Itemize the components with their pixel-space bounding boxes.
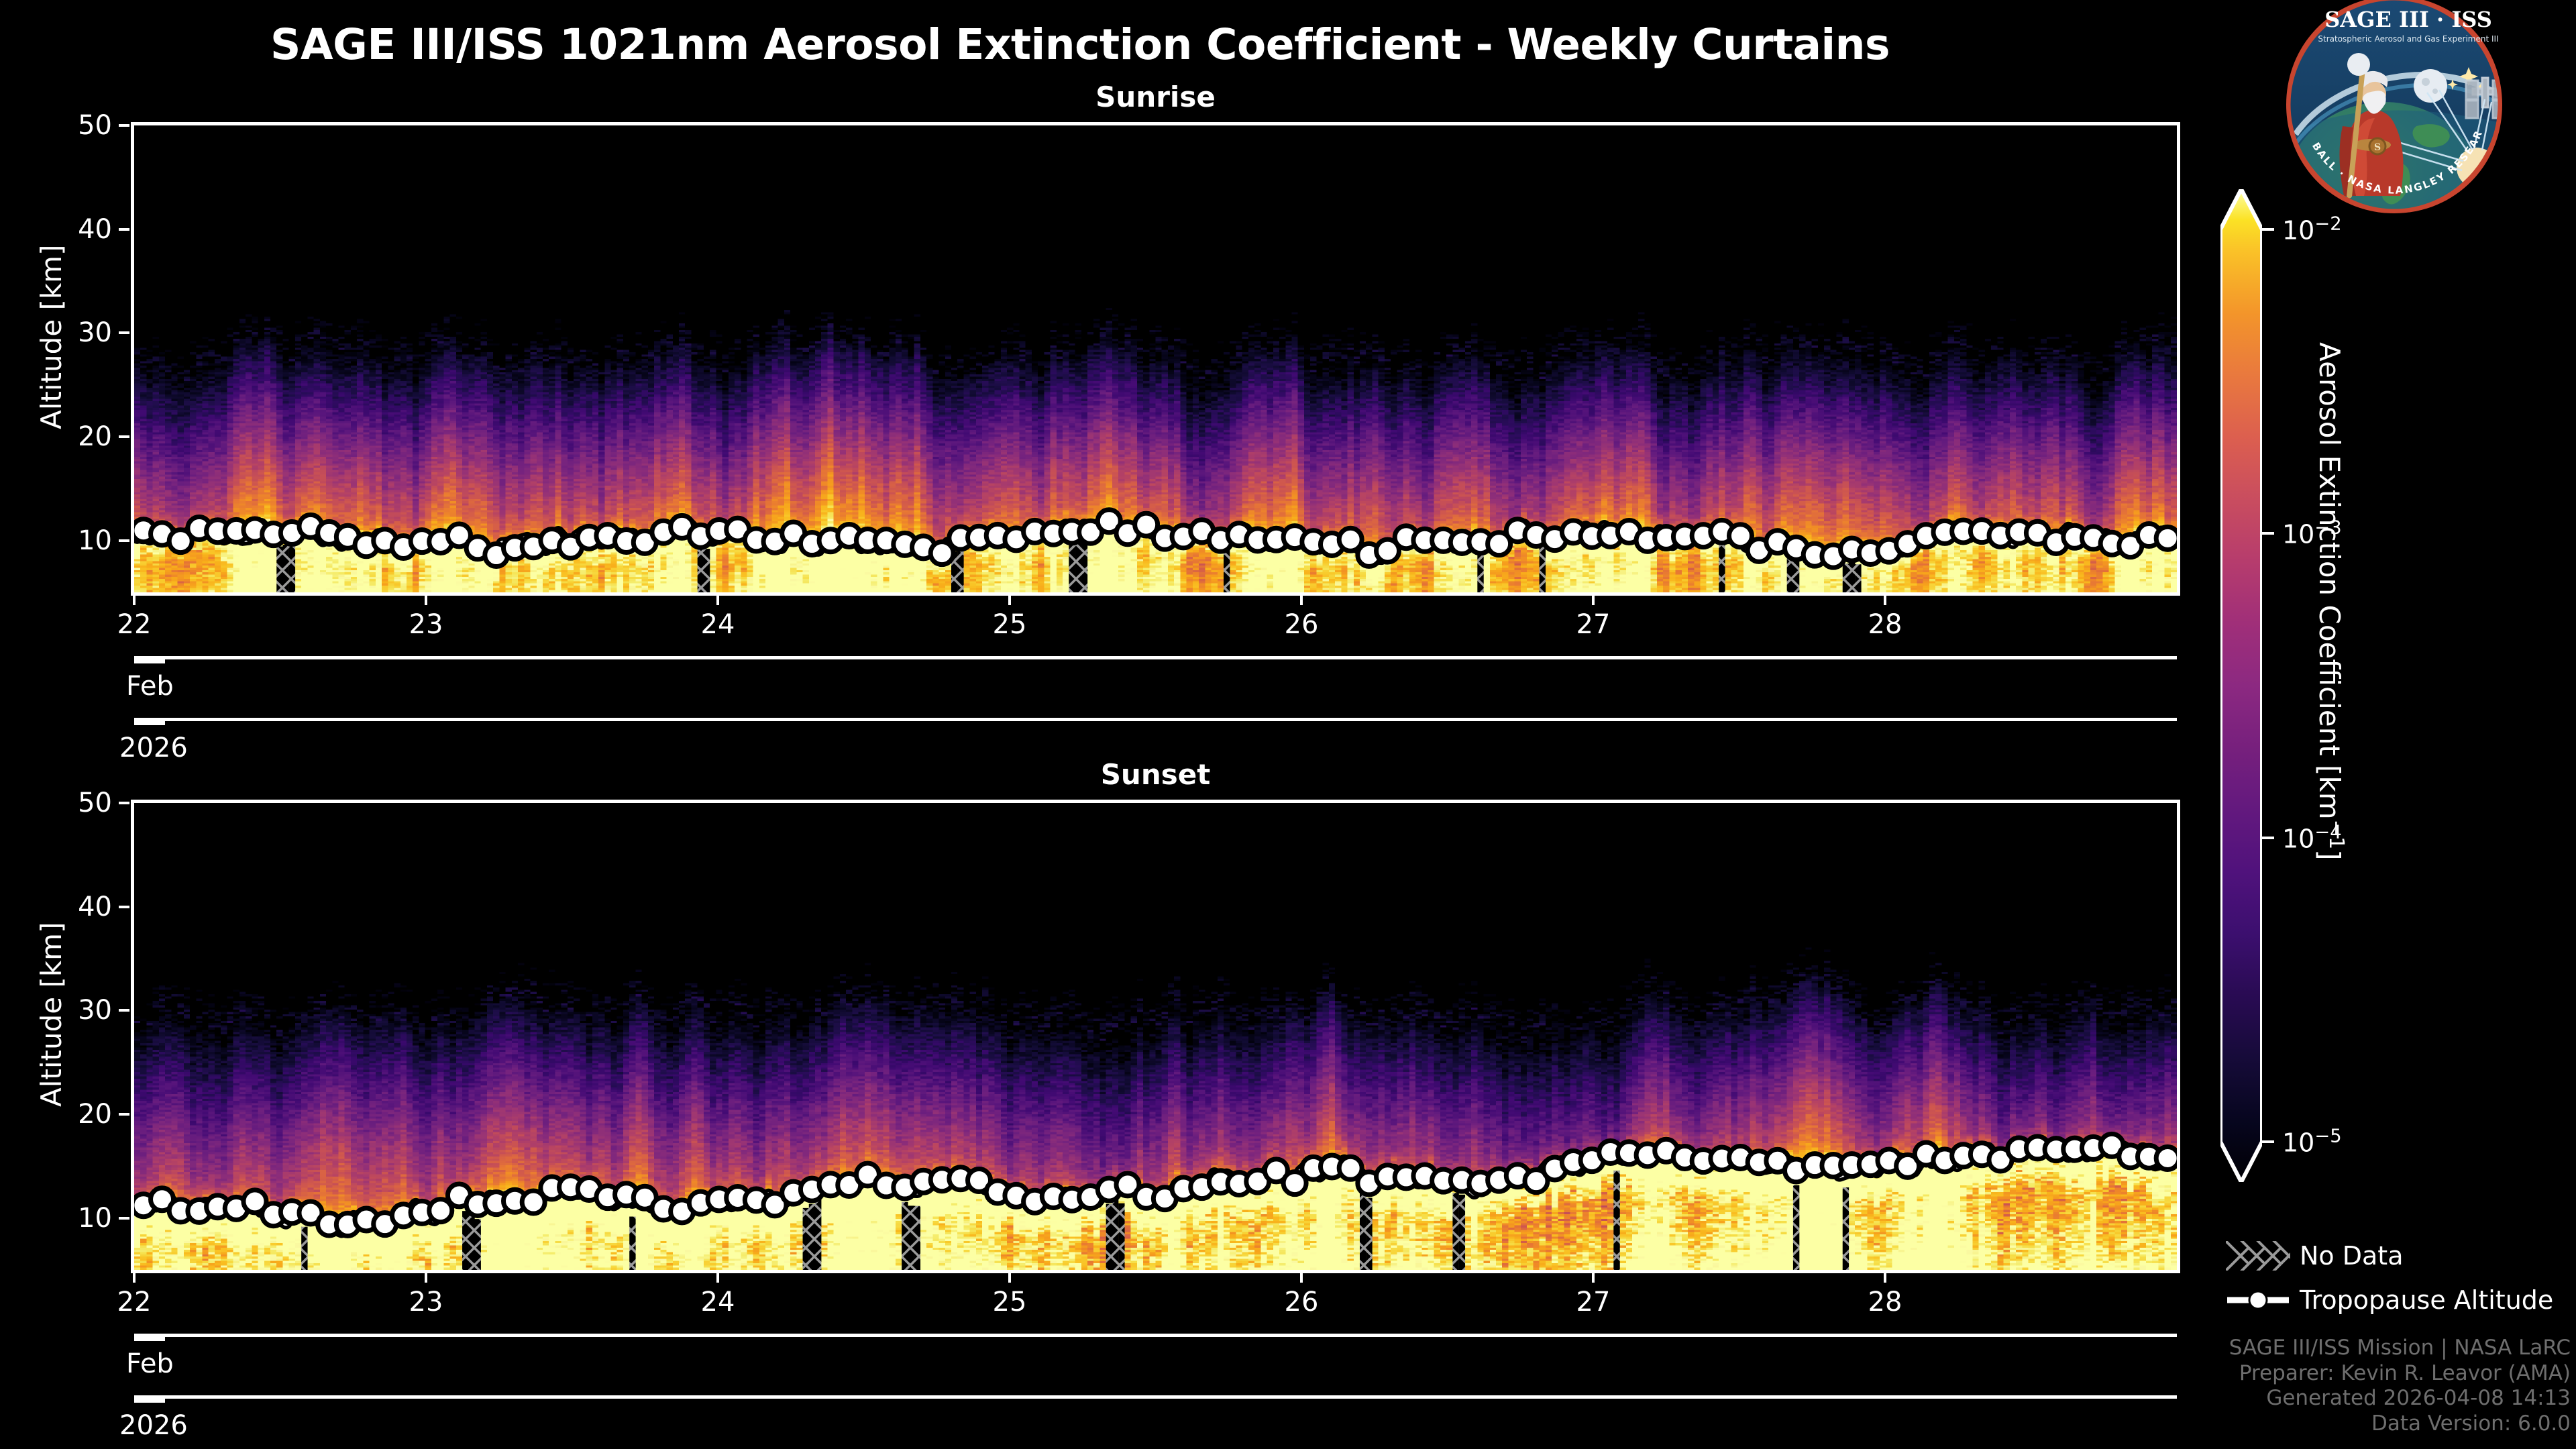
y-tick-label: 40 [0, 892, 112, 922]
no-data-column [1793, 557, 1799, 592]
x-tick-label: 26 [1285, 1287, 1319, 1318]
sage-iii-iss-mission-patch: S SAGE III · ISS Stratospheric Aerosol a… [2284, 0, 2505, 216]
footer-line-version: Data Version: 6.0.0 [2229, 1411, 2571, 1437]
x-level-tab-month [134, 1334, 165, 1341]
no-data-column [1719, 541, 1725, 592]
no-data-column [468, 1213, 474, 1270]
x-level-tab-month [134, 656, 165, 663]
x-tick-label: 24 [701, 1287, 735, 1318]
colorbar-tick-label: 10−5 [2282, 1126, 2342, 1158]
no-data-column [1112, 1198, 1118, 1270]
no-data-column [704, 549, 710, 592]
no-data-column [902, 1202, 908, 1270]
x-tick-label: 26 [1285, 609, 1319, 640]
no-data-column [462, 1211, 468, 1270]
no-data-column [1452, 1193, 1458, 1270]
sunrise-overlay [134, 125, 2177, 592]
x-tick-mark [133, 596, 136, 605]
x-level-label-month: Feb [126, 671, 174, 702]
tropopause-line-icon [2226, 1285, 2290, 1315]
legend-label-tropopause: Tropopause Altitude [2300, 1285, 2553, 1315]
tropopause-marker [2156, 527, 2177, 549]
legend: No Data Tropopause Altitude [2226, 1238, 2561, 1318]
no-data-column [908, 1205, 914, 1270]
y-tick-mark [119, 435, 129, 438]
no-data-column [698, 545, 704, 592]
tropopause-marker [2156, 1147, 2177, 1170]
x-tick-label: 28 [1868, 609, 1902, 640]
no-data-column [1224, 549, 1230, 592]
y-tick-mark [119, 331, 129, 334]
y-tick-label: 50 [0, 110, 112, 141]
panel-sunset: Sunset [131, 800, 2180, 1273]
y-tick-label: 40 [0, 214, 112, 245]
no-data-column [1360, 1191, 1366, 1270]
x-level-rule-year [134, 1395, 2177, 1399]
y-tick-mark [119, 1217, 129, 1220]
y-tick-mark [119, 1009, 129, 1012]
panel-sunrise: Sunrise [131, 122, 2180, 596]
footer-line-mission: SAGE III/ISS Mission | NASA LaRC [2229, 1336, 2571, 1361]
no-data-column [957, 547, 963, 592]
colorbar [2220, 189, 2262, 1182]
no-data-column [1540, 544, 1546, 592]
colorbar-tick-mark [2262, 228, 2274, 231]
y-tick-label: 30 [0, 995, 112, 1026]
colorbar-tick-mark [2262, 1140, 2274, 1143]
y-tick-label: 10 [0, 1203, 112, 1234]
patch-title: SAGE III · ISS [2324, 7, 2492, 32]
x-tick-label: 25 [993, 609, 1027, 640]
no-data-column [1459, 1195, 1465, 1270]
figure-title: SAGE III/ISS 1021nm Aerosol Extinction C… [0, 20, 2160, 69]
y-tick-mark [119, 228, 129, 231]
no-data-column [1106, 1204, 1112, 1270]
colorbar-title-text: Aerosol Extinction Coefficient [2313, 342, 2346, 756]
y-tick-mark [119, 802, 129, 804]
colorbar-tick-mark [2262, 532, 2274, 535]
svg-text:S: S [2374, 142, 2381, 153]
legend-item-no-data: No Data [2226, 1238, 2561, 1274]
no-data-column [475, 1219, 481, 1270]
x-tick-mark [716, 1273, 719, 1283]
legend-label-no-data: No Data [2300, 1241, 2404, 1271]
patch-subtitle: Stratospheric Aerosol and Gas Experiment… [2318, 34, 2498, 44]
y-tick-label: 10 [0, 525, 112, 556]
x-tick-label: 28 [1868, 1287, 1902, 1318]
y-tick-mark [119, 906, 129, 908]
x-level-rule-year [134, 718, 2177, 721]
panel-sunset-title: Sunset [131, 758, 2180, 791]
no-data-column [803, 1208, 809, 1270]
x-tick-label: 25 [993, 1287, 1027, 1318]
x-level-rule-month [134, 1334, 2177, 1337]
sunset-overlay [134, 803, 2177, 1270]
footer-line-preparer: Preparer: Kevin R. Leavor (AMA) [2229, 1361, 2571, 1387]
y-tick-mark [119, 539, 129, 542]
legend-item-tropopause: Tropopause Altitude [2226, 1282, 2561, 1318]
x-tick-mark [1008, 1273, 1011, 1283]
x-tick-mark [1592, 596, 1595, 605]
x-tick-mark [1592, 1273, 1595, 1283]
y-tick-mark [119, 124, 129, 127]
y-tick-label: 50 [0, 788, 112, 818]
x-tick-label: 24 [701, 609, 735, 640]
footer-line-generated: Generated 2026-04-08 14:13 [2229, 1386, 2571, 1411]
no-data-column [301, 1227, 307, 1270]
no-data-column [1843, 563, 1849, 592]
x-tick-mark [1300, 596, 1303, 605]
x-tick-mark [1008, 596, 1011, 605]
no-data-column [914, 1206, 920, 1270]
x-tick-mark [716, 596, 719, 605]
no-data-column [1849, 559, 1855, 592]
footer-credits: SAGE III/ISS Mission | NASA LaRC Prepare… [2229, 1336, 2571, 1437]
no-data-hatch-icon [2226, 1241, 2290, 1271]
colorbar-title-units: [km−1] [2313, 756, 2346, 861]
x-tick-label: 27 [1576, 609, 1611, 640]
no-data-column [1075, 539, 1081, 592]
no-data-column [815, 1199, 821, 1270]
no-data-column [629, 1217, 635, 1270]
no-data-column [1787, 557, 1793, 592]
colorbar-tick-label: 10−2 [2282, 214, 2342, 246]
x-tick-mark [425, 1273, 427, 1283]
y-tick-label: 20 [0, 1099, 112, 1130]
no-data-column [1069, 541, 1075, 592]
x-tick-mark [1884, 596, 1886, 605]
no-data-column [1118, 1203, 1124, 1270]
x-tick-mark [1300, 1273, 1303, 1283]
no-data-column [276, 547, 282, 592]
x-tick-label: 23 [409, 609, 443, 640]
panel-sunrise-title: Sunrise [131, 80, 2180, 113]
no-data-column [282, 545, 288, 592]
x-level-tab-year [134, 718, 165, 725]
x-tick-label: 27 [1576, 1287, 1611, 1318]
y-tick-label: 30 [0, 317, 112, 348]
no-data-column [1613, 1171, 1619, 1270]
x-level-label-month: Feb [126, 1348, 174, 1379]
y-tick-mark [119, 1113, 129, 1116]
y-tick-label: 20 [0, 421, 112, 452]
no-data-column [1855, 564, 1861, 592]
x-tick-label: 22 [117, 1287, 152, 1318]
no-data-column [1366, 1198, 1372, 1270]
sunset-axes [131, 800, 2180, 1273]
no-data-column [1843, 1187, 1849, 1270]
no-data-column [809, 1204, 815, 1270]
x-level-rule-month [134, 656, 2177, 659]
x-tick-label: 23 [409, 1287, 443, 1318]
x-tick-label: 22 [117, 609, 152, 640]
colorbar-tick-mark [2262, 837, 2274, 839]
no-data-column [289, 542, 295, 592]
no-data-column [1477, 551, 1483, 592]
x-tick-mark [133, 1273, 136, 1283]
no-data-column [1793, 1185, 1799, 1270]
x-tick-mark [425, 596, 427, 605]
sunrise-axes [131, 122, 2180, 596]
x-level-label-year: 2026 [119, 1410, 188, 1441]
x-level-tab-year [134, 1395, 165, 1403]
colorbar-title: Aerosol Extinction Coefficient [km−1] [2313, 342, 2348, 861]
x-tick-mark [1884, 1273, 1886, 1283]
